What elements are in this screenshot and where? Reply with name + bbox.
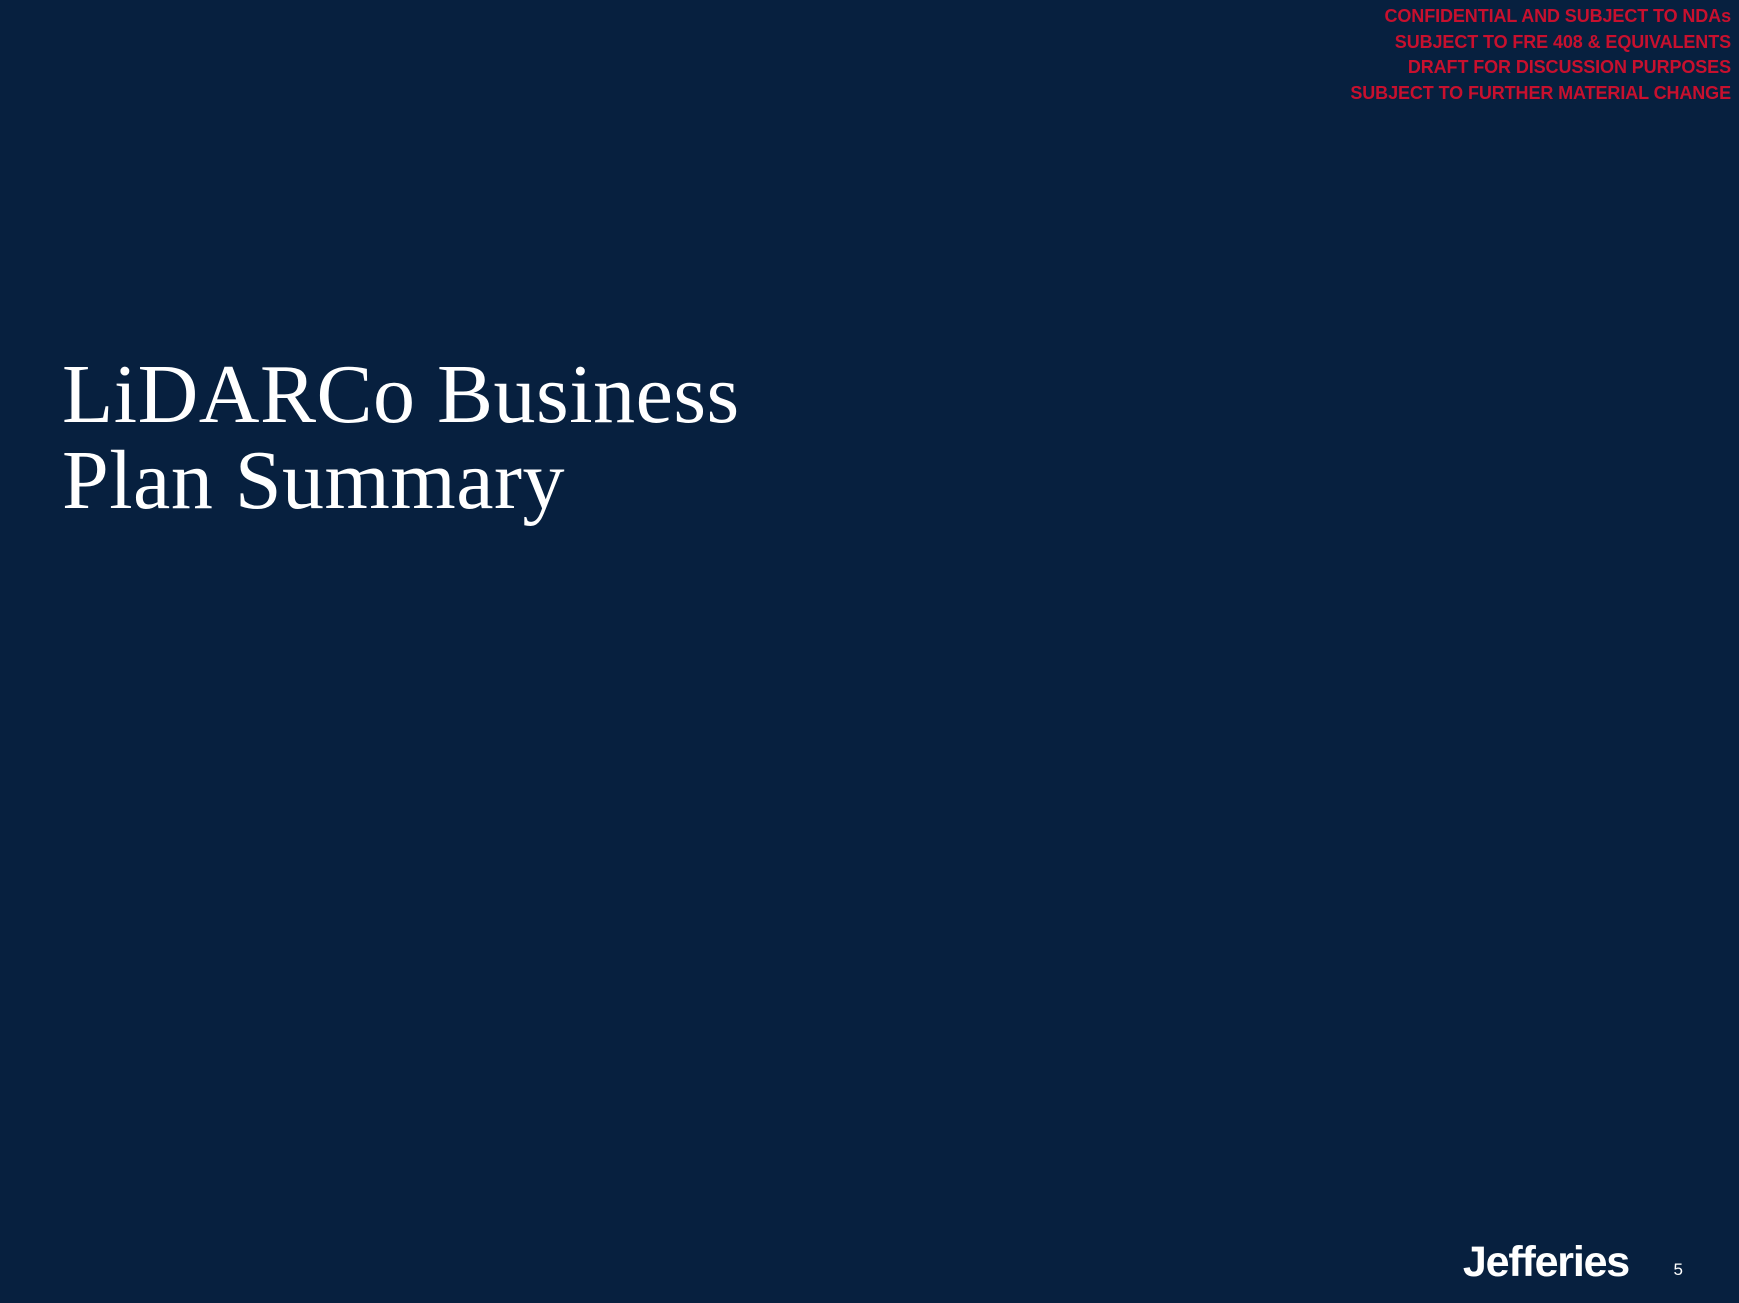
legend-line-3: DRAFT FOR DISCUSSION PURPOSES xyxy=(1091,55,1731,81)
jefferies-logo: Jefferies xyxy=(1463,1241,1629,1284)
page-number: 5 xyxy=(1674,1261,1683,1278)
slide-footer: Jefferies 5 xyxy=(0,1213,1739,1303)
legend-line-1: CONFIDENTIAL AND SUBJECT TO NDAs xyxy=(1091,4,1731,30)
section-title-line-2: Plan Summary xyxy=(62,438,1062,524)
section-title-line-1: LiDARCo Business xyxy=(62,352,1062,438)
legend-line-2: SUBJECT TO FRE 408 & EQUIVALENTS xyxy=(1091,30,1731,56)
confidentiality-legend: CONFIDENTIAL AND SUBJECT TO NDAs SUBJECT… xyxy=(1091,4,1731,106)
slide-canvas: CONFIDENTIAL AND SUBJECT TO NDAs SUBJECT… xyxy=(0,0,1739,1303)
section-title: LiDARCo Business Plan Summary xyxy=(62,352,1062,524)
legend-line-4: SUBJECT TO FURTHER MATERIAL CHANGE xyxy=(1091,81,1731,107)
